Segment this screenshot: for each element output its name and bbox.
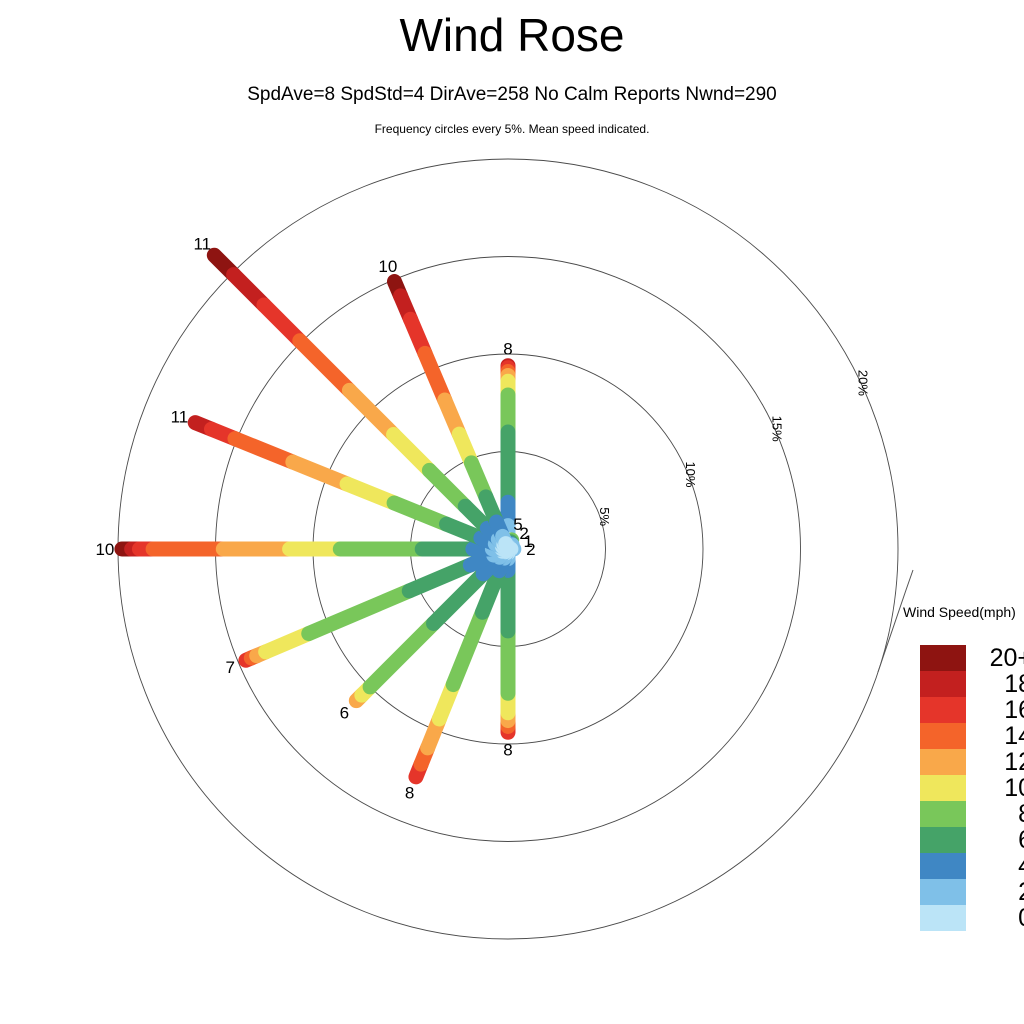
legend-swatch [920,697,966,723]
petal-segment [506,544,508,549]
legend-item: 18 [920,671,1024,697]
petal-segment [394,503,446,524]
petal-segment [429,470,465,506]
legend-swatch [920,879,966,905]
legend-item: 4 [920,853,1024,879]
legend-item: 8 [920,801,1024,827]
petal-segment [370,623,433,686]
petal-mean-speed-label: 2 [526,540,535,559]
wind-rose-page: Wind Rose SpdAve=8 SpdStd=4 DirAve=258 N… [0,0,1024,1024]
legend-label: 12 [966,749,1024,775]
legend-swatch [920,853,966,879]
legend-label: 2 [966,879,1024,905]
ring-label: 20% [855,370,870,396]
legend-swatch [920,905,966,931]
petal-mean-speed-label: 6 [340,704,349,723]
legend-swatch [920,645,966,671]
ring-label: 15% [769,416,784,442]
petal-mean-speed-label: 8 [405,784,414,803]
legend-swatch [920,723,966,749]
petal-segment [300,341,350,391]
legend-label: 0 [966,905,1024,931]
legend-title: Wind Speed(mph) [903,604,1016,620]
legend-label: 18 [966,671,1024,697]
legend-item: 6 [920,827,1024,853]
petal-mean-speed-label: 11 [171,407,189,426]
legend-item: 12 [920,749,1024,775]
legend-item: 16 [920,697,1024,723]
petal-group [122,255,514,777]
legend-item: 20+ [920,645,1024,671]
petal-mean-speed-label: 10 [378,257,397,276]
petal-segment [425,353,445,400]
legend-label: 14 [966,723,1024,749]
legend-label: 16 [966,697,1024,723]
legend-label: 20+ [966,645,1024,671]
legend-item: 10 [920,775,1024,801]
legend-swatch [920,827,966,853]
legend-swatch [920,775,966,801]
legend: 20+181614121086420 [920,645,1024,931]
legend-label: 8 [966,801,1024,827]
petal-mean-speed-label: 8 [503,340,512,359]
legend-swatch [920,801,966,827]
petal-segment [235,439,293,462]
legend-label: 10 [966,775,1024,801]
legend-item: 0 [920,905,1024,931]
petal-segment [347,484,394,503]
wind-rose-plot: 85212886710111110 5%10%15%20% [0,0,1024,1024]
petal-segment [349,390,393,434]
ring-label: 10% [683,461,698,487]
legend-item: 14 [920,723,1024,749]
legend-item: 2 [920,879,1024,905]
petal-segment [264,305,300,341]
petal-mean-speed-label: 11 [193,234,211,253]
ring-label: 5% [597,507,612,526]
legend-label: 6 [966,827,1024,853]
petal-segment [293,462,347,484]
petal-mean-speed-label: 7 [226,658,235,677]
legend-swatch [920,671,966,697]
petal-mean-speed-label: 10 [95,540,114,559]
legend-leader-line [878,570,913,672]
legend-swatch [920,749,966,775]
legend-label: 4 [966,853,1024,879]
petal-mean-speed-label: 8 [503,740,512,759]
ring-label-group: 5%10%15%20% [597,370,870,527]
petal-segment [394,435,430,471]
petal-segment [453,612,482,684]
